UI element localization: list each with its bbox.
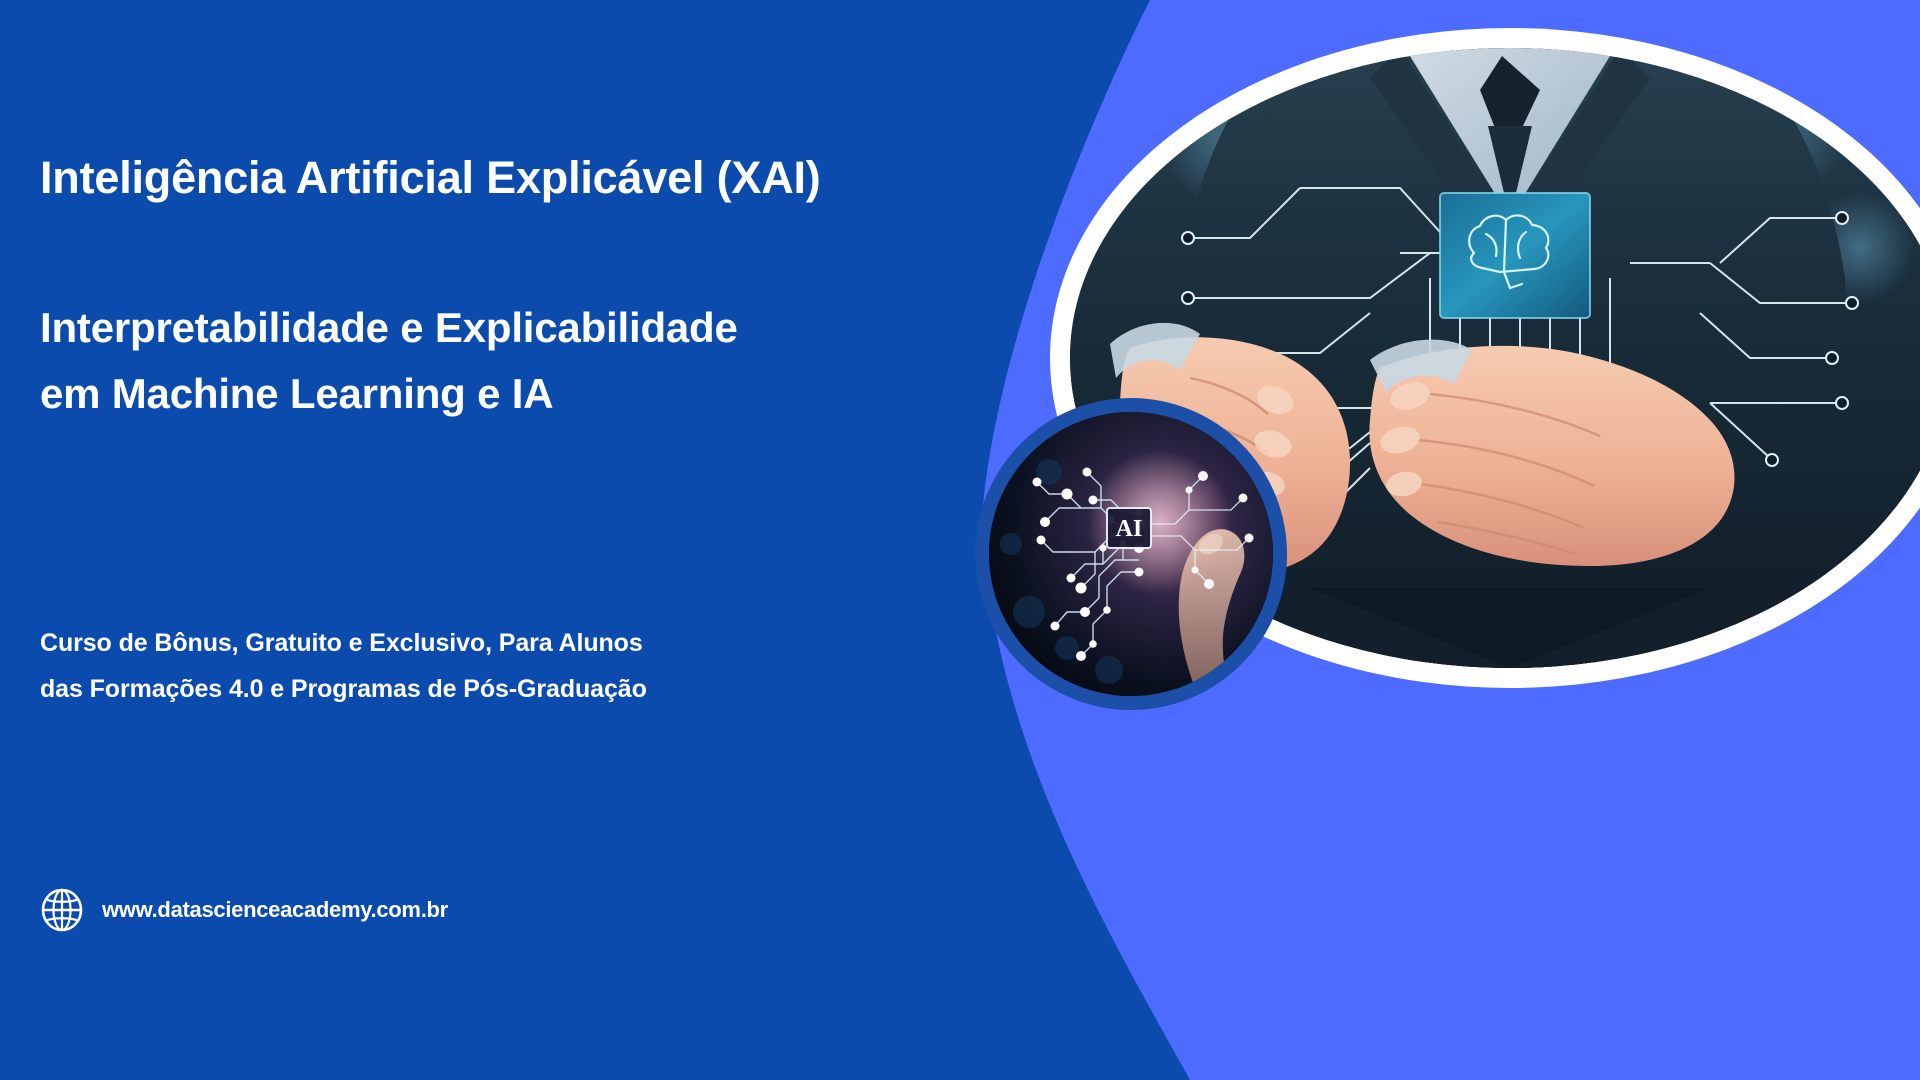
headline-line-3: em Machine Learning e IA [40,361,1020,427]
description-text: Curso de Bônus, Gratuito e Exclusivo, Pa… [40,620,1020,713]
ai-chip-label: AI [1116,516,1143,542]
text-content: Inteligência Artificial Explicável (XAI)… [40,0,1040,1080]
headline-secondary: Interpretabilidade e Explicabilidade em … [40,295,1020,428]
description-line-2: das Formações 4.0 e Programas de Pós-Gra… [40,666,1020,712]
description-line-1: Curso de Bônus, Gratuito e Exclusivo, Pa… [40,620,1020,666]
headline-primary: Inteligência Artificial Explicável (XAI) [40,152,1020,204]
headline-line-1: Inteligência Artificial Explicável (XAI) [40,152,1020,204]
globe-icon [40,888,84,932]
brain-chip-graphic [1440,193,1590,318]
website-url-text: www.datascienceacademy.com.br [102,897,448,923]
ai-chip-badge: AI [1107,508,1151,548]
website-link[interactable]: www.datascienceacademy.com.br [40,888,448,932]
headline-line-2: Interpretabilidade e Explicabilidade [40,295,1020,361]
